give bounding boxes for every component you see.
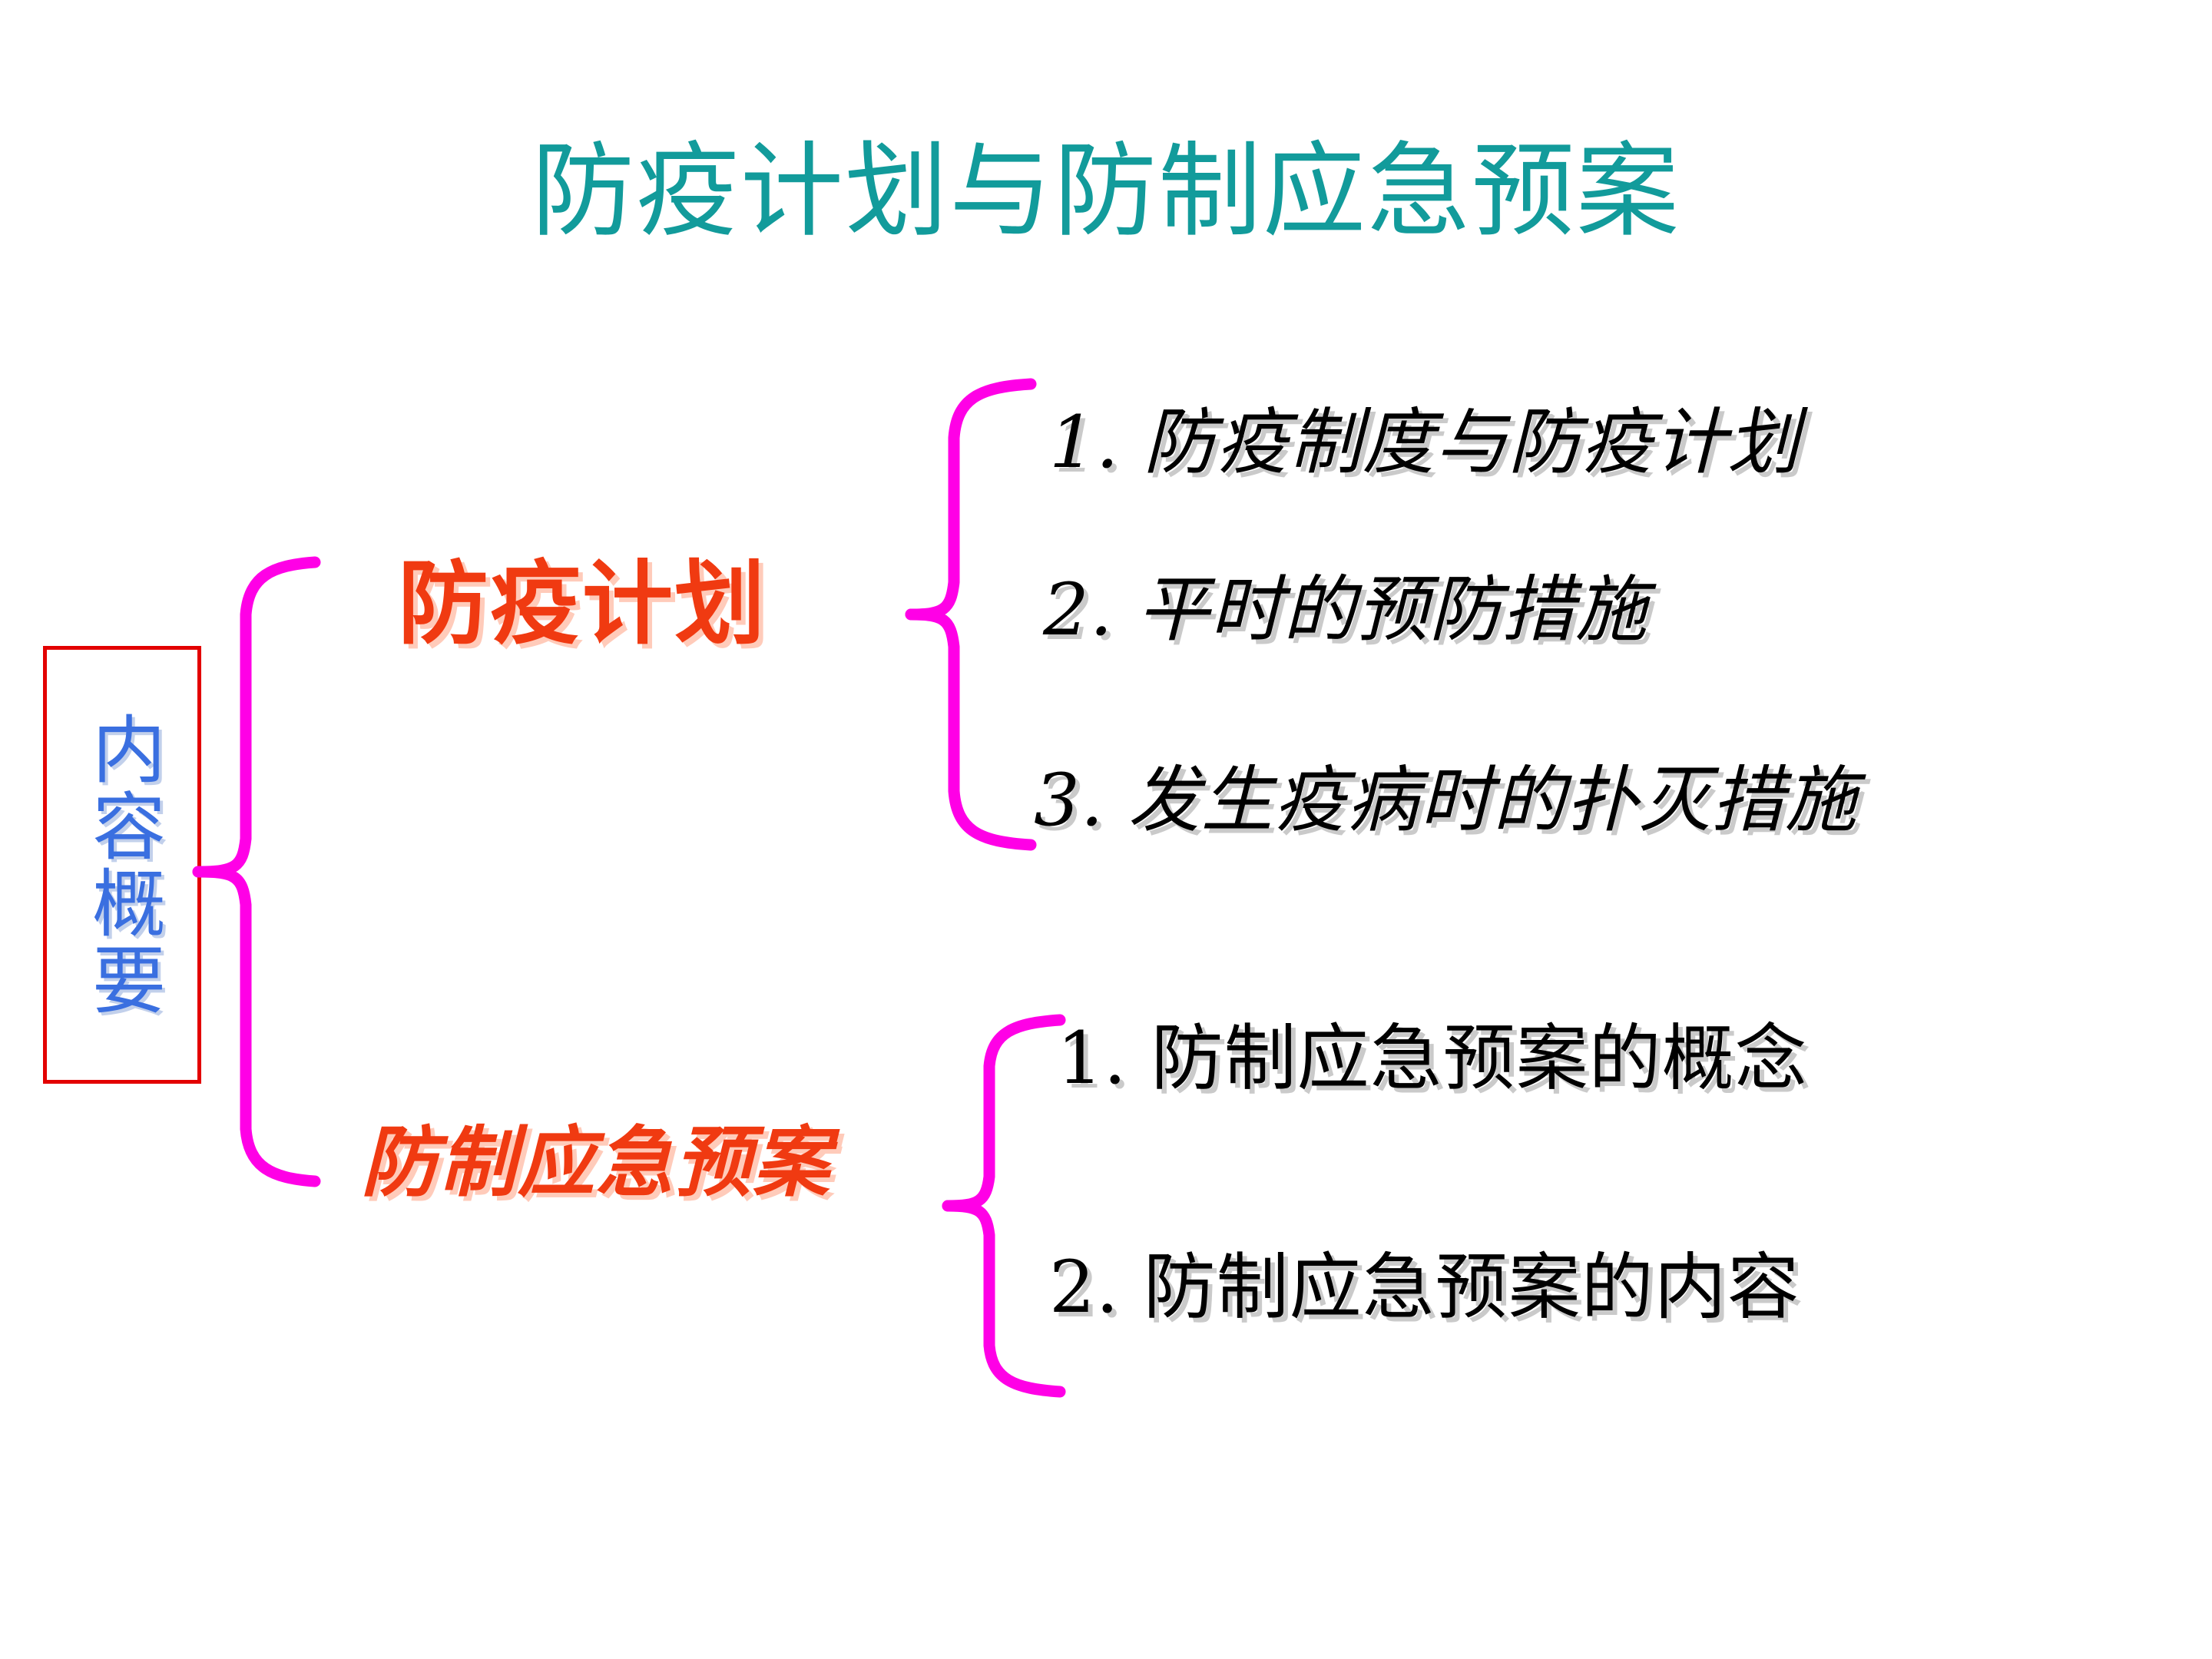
root-node-box: 内容概要 bbox=[43, 646, 201, 1084]
leaf-item: 1. 防疫制度与防疫计划 bbox=[1049, 384, 1800, 488]
page-title: 防疫计划与防制应急预案 bbox=[0, 132, 2212, 250]
leaf-item: 1. 防制应急预案的概念 bbox=[1057, 1000, 1808, 1104]
leaf-item: 2. 防制应急预案的内容 bbox=[1049, 1229, 1800, 1333]
root-brace-icon bbox=[192, 553, 353, 1190]
branch-label-fangzhiyingjiyuan: 防制应急预案 bbox=[361, 1100, 831, 1211]
slide-canvas: 防疫计划与防制应急预案 内容概要 防疫计划 1. 防疫制度与防疫计划 2. 平时… bbox=[0, 0, 2212, 1659]
branch-label-fangyijihua: 防疫计划 bbox=[398, 530, 767, 661]
leaf-item: 2. 平时的预防措施 bbox=[1043, 551, 1648, 656]
leaf-item: 3. 发生疫病时的扑灭措施 bbox=[1034, 742, 1858, 846]
root-node-label: 内容概要 bbox=[75, 711, 170, 1018]
